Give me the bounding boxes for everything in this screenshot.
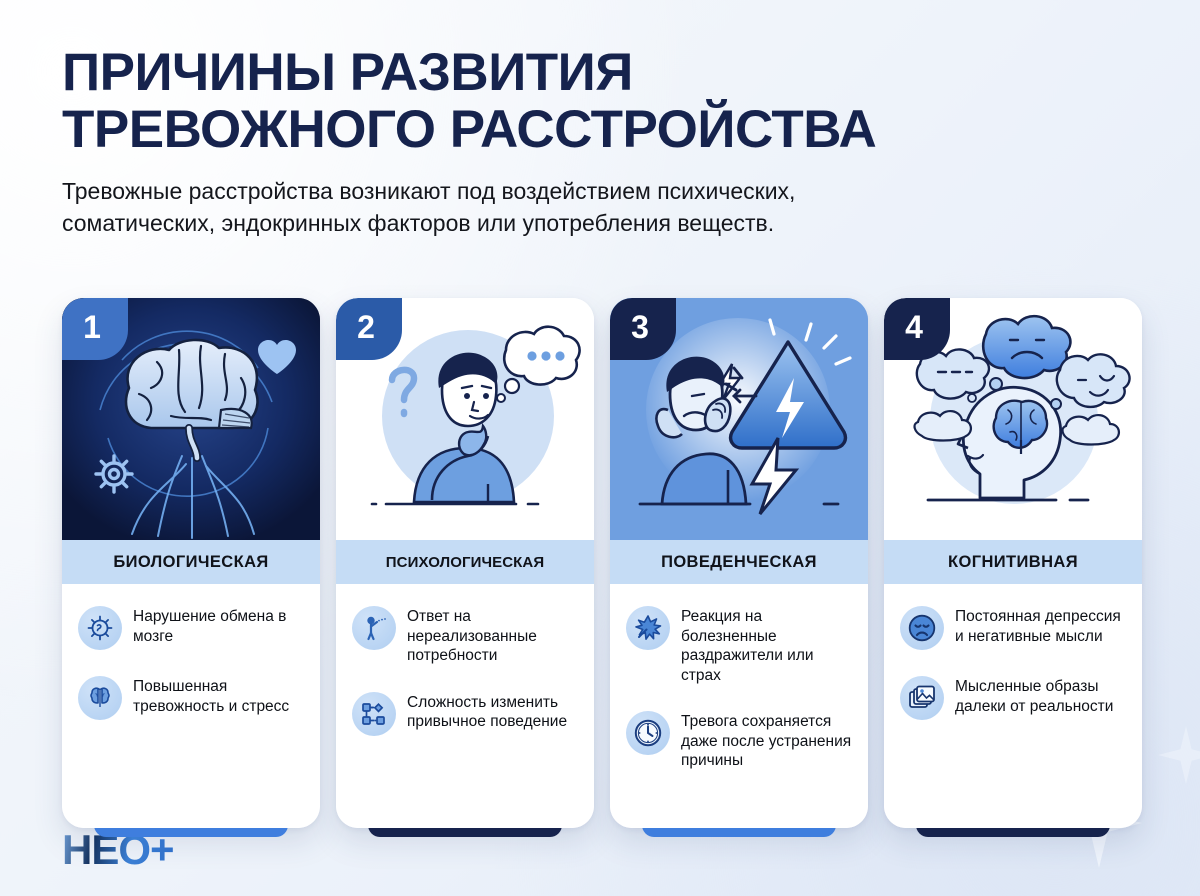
list-item-text: Реакция на болезненные раздражители или … [681, 606, 852, 685]
brain-icon [78, 676, 122, 720]
card-number-badge: 3 [610, 298, 676, 360]
sparkle-decoration-small [1158, 726, 1200, 784]
list-item: Тревога сохраняется даже после устранени… [626, 711, 852, 771]
card-behavioral[interactable]: 3 ПОВЕДЕНЧЕСКАЯ Реакция на болезненные р… [610, 298, 868, 828]
list-item-text: Нарушение обмена в мозге [133, 606, 304, 646]
thought-cloud-small-right [1063, 415, 1119, 444]
photos-icon [900, 676, 944, 720]
card-label-psychological: ПСИХОЛОГИЧЕСКАЯ [336, 540, 594, 584]
card-number-badge: 4 [884, 298, 950, 360]
list-item-text: Мысленные образы далеки от реальности [955, 676, 1126, 716]
gear-brain-icon [78, 606, 122, 650]
person-reaching-icon [352, 606, 396, 650]
list-item: Нарушение обмена в мозге [78, 606, 304, 650]
title-line-1: ПРИЧИНЫ РАЗВИТИЯ [62, 44, 1072, 101]
card-label-cognitive: КОГНИТИВНАЯ [884, 540, 1142, 584]
card-bullets: Реакция на болезненные раздражители или … [610, 584, 868, 828]
burst-icon [626, 606, 670, 650]
list-item-text: Тревога сохраняется даже после устранени… [681, 711, 852, 771]
clock-icon [626, 711, 670, 755]
cards-row: 1 БИОЛОГИЧЕСКАЯ [62, 298, 1142, 828]
card-number-badge: 1 [62, 298, 128, 360]
card-bullets: Постоянная депрессия и негативные мысли [884, 584, 1142, 828]
card-cognitive[interactable]: 4 КОГНИТИВНАЯ [884, 298, 1142, 828]
list-item: Постоянная депрессия и негативные мысли [900, 606, 1126, 650]
card-bullets: Нарушение обмена в мозге [62, 584, 320, 828]
subtitle-line-1: Тревожные расстройства возникают под воз… [62, 176, 1022, 208]
card-illustration-brain-neural-dark: 1 [62, 298, 320, 540]
card-biological[interactable]: 1 БИОЛОГИЧЕСКАЯ [62, 298, 320, 828]
card-illustration-startled-man-warning: 3 [610, 298, 868, 540]
infographic-page: ПРИЧИНЫ РАЗВИТИЯ ТРЕВОЖНОГО РАССТРОЙСТВА… [0, 0, 1200, 896]
list-item: Реакция на болезненные раздражители или … [626, 606, 852, 685]
card-illustration-head-thought-clouds: 4 [884, 298, 1142, 540]
page-title: ПРИЧИНЫ РАЗВИТИЯ ТРЕВОЖНОГО РАССТРОЙСТВА [62, 44, 1072, 158]
card-number: 1 [83, 309, 101, 346]
subtitle-line-2: соматических, эндокринных факторов или у… [62, 208, 1022, 240]
title-line-2: ТРЕВОЖНОГО РАССТРОЙСТВА [62, 101, 1072, 158]
list-item-text: Постоянная депрессия и негативные мысли [955, 606, 1126, 646]
flow-diagram-icon [352, 692, 396, 736]
list-item: Ответ на нереализованные потребности [352, 606, 578, 666]
card-number: 4 [905, 309, 923, 346]
card-psychological[interactable]: 2 ПСИХОЛОГИЧЕСКАЯ [336, 298, 594, 828]
card-bullets: Ответ на нереализованные потребности [336, 584, 594, 828]
list-item-text: Ответ на нереализованные потребности [407, 606, 578, 666]
card-number: 2 [357, 309, 375, 346]
list-item: Повышенная тревожность и стресс [78, 676, 304, 720]
page-subtitle: Тревожные расстройства возникают под воз… [62, 176, 1022, 239]
list-item-text: Сложность изменить привычное поведение [407, 692, 578, 732]
card-number: 3 [631, 309, 649, 346]
card-label-behavioral: ПОВЕДЕНЧЕСКАЯ [610, 540, 868, 584]
list-item-text: Повышенная тревожность и стресс [133, 676, 304, 716]
card-illustration-thinking-man: 2 [336, 298, 594, 540]
sad-face-icon [900, 606, 944, 650]
list-item: Мысленные образы далеки от реальности [900, 676, 1126, 720]
header: ПРИЧИНЫ РАЗВИТИЯ ТРЕВОЖНОГО РАССТРОЙСТВА… [62, 44, 1072, 240]
list-item: Сложность изменить привычное поведение [352, 692, 578, 736]
card-number-badge: 2 [336, 298, 402, 360]
card-label-biological: БИОЛОГИЧЕСКАЯ [62, 540, 320, 584]
